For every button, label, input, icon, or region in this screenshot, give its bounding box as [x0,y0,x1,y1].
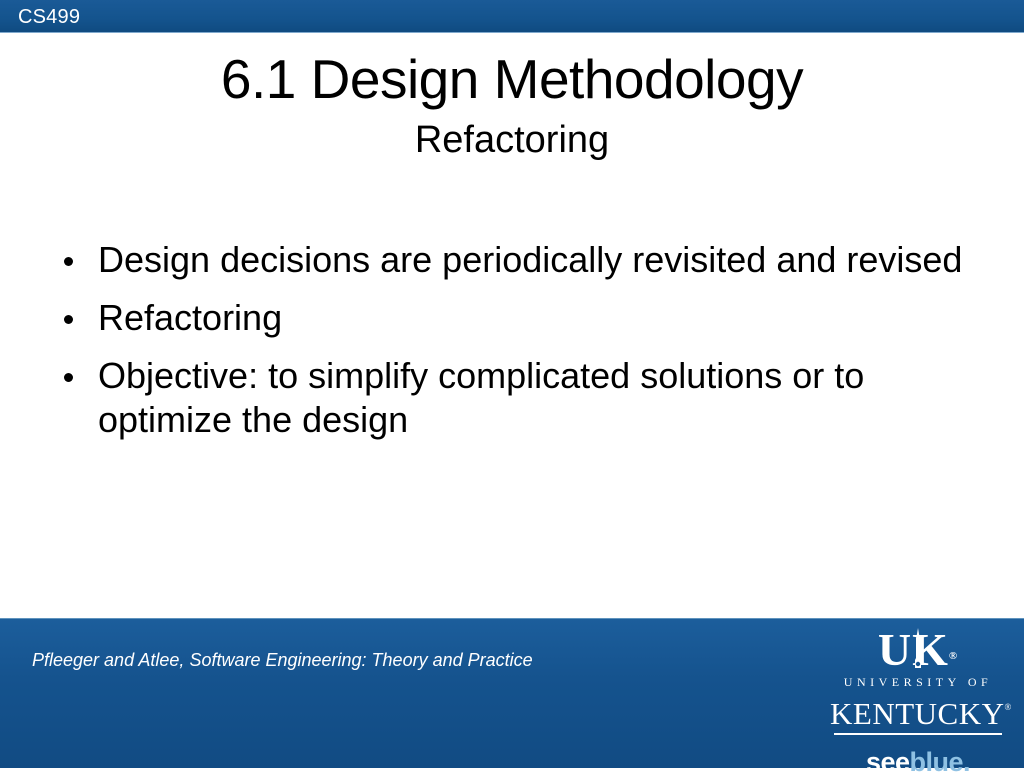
kentucky-wordmark: KENTUCKY® [830,690,1006,731]
registered-trademark-icon: ® [949,650,958,662]
see-blue-tagline: seeblue. [830,747,1006,777]
tagline-blue: blue. [910,747,971,777]
list-item: Refactoring [56,296,966,340]
uk-monogram-k: K [912,624,949,675]
tagline-see: see [866,747,910,777]
list-item-text: Refactoring [98,296,966,340]
list-item-text: Design decisions are periodically revisi… [98,238,966,282]
slide-canvas: CS499 6.1 Design Methodology Refactoring… [0,0,1024,768]
page-subtitle: Refactoring [0,116,1024,164]
logo-divider-rule [834,733,1002,735]
list-item-text: Objective: to simplify complicated solut… [98,354,966,442]
list-item: Objective: to simplify complicated solut… [56,354,966,442]
kentucky-label: KENTUCKY [830,696,1005,731]
university-of-label: UNIVERSITY OF [830,674,1006,690]
uk-monogram-u: U [878,624,912,675]
footer-band: Pfleeger and Atlee, Software Engineering… [0,618,1024,768]
list-item: Design decisions are periodically revisi… [56,238,966,282]
footer-citation-text: Pfleeger and Atlee, Software Engineering… [32,648,533,672]
uk-monogram: UK® [830,626,1006,676]
bullet-dot-icon [64,315,73,324]
course-code-label: CS499 [18,3,80,31]
title-block: 6.1 Design Methodology Refactoring [0,48,1024,164]
bullet-dot-icon [64,257,73,266]
registered-trademark-small-icon: ® [1005,702,1012,712]
top-banner: CS499 [0,0,1024,33]
page-title: 6.1 Design Methodology [0,48,1024,110]
university-of-kentucky-logo: UK® UNIVERSITY OF KENTUCKY® seeblue. [830,626,1006,777]
bullet-list: Design decisions are periodically revisi… [56,238,966,442]
bullet-dot-icon [64,373,73,382]
